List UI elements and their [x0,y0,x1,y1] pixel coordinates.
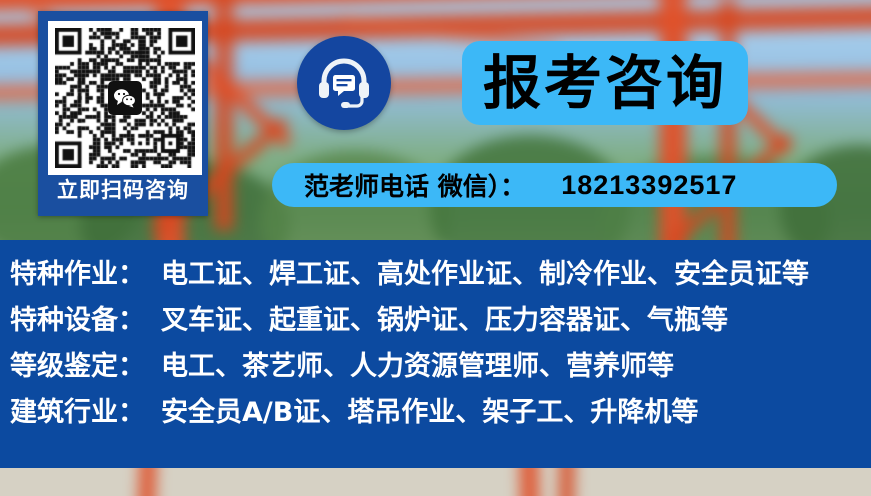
category-row-special-operations: 特种作业： 电工证、焊工证、高处作业证、制冷作业、安全员证等 [0,252,871,298]
course-categories-panel: 特种作业： 电工证、焊工证、高处作业证、制冷作业、安全员证等 特种设备： 叉车证… [0,240,871,468]
category-label: 等级鉴定： [10,344,145,383]
category-items: 安全员A/B证、塔吊作业、架子工、升降机等 [161,390,698,429]
category-label: 特种设备： [10,298,145,337]
contact-label: 范老师电话 微信）： [304,167,525,203]
category-items: 电工、茶艺师、人力资源管理师、营养师等 [161,344,674,383]
category-row-construction-industry: 建筑行业： 安全员A/B证、塔吊作业、架子工、升降机等 [0,390,871,436]
contact-badge[interactable]: 范老师电话 微信）： 18213392517 [272,163,837,207]
category-items: 电工证、焊工证、高处作业证、制冷作业、安全员证等 [161,252,809,291]
qr-code-card[interactable]: 立即扫码咨询 [38,11,208,216]
category-row-grade-certification: 等级鉴定： 电工、茶艺师、人力资源管理师、营养师等 [0,344,871,390]
page-title: 报考咨询 [483,54,727,112]
qr-card-caption: 立即扫码咨询 [42,171,204,209]
category-label: 特种作业： [10,252,145,291]
promotional-poster: 立即扫码咨询 报考咨询 范老师电话 微信）： 18213392517 特种作业：… [0,0,871,496]
title-badge: 报考咨询 [462,41,748,125]
qr-code-surface [48,21,202,175]
qr-code-icon [55,28,195,168]
category-items: 叉车证、起重证、锅炉证、压力容器证、气瓶等 [161,298,728,337]
category-label: 建筑行业： [10,390,145,429]
headset-support-icon[interactable] [297,36,391,130]
wechat-icon [108,81,142,115]
bottom-photo-strip [0,468,871,496]
contact-phone-number[interactable]: 18213392517 [561,170,737,201]
category-row-special-equipment: 特种设备： 叉车证、起重证、锅炉证、压力容器证、气瓶等 [0,298,871,344]
